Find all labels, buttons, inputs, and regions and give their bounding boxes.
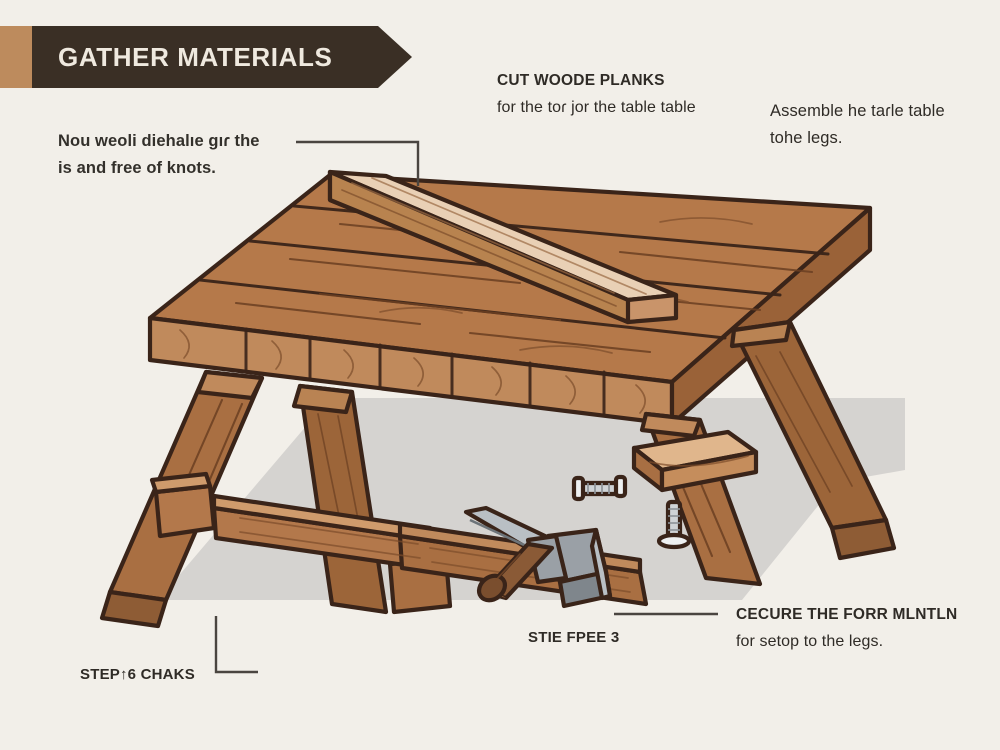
annotation-step-3: STIE FPEE 3 — [528, 629, 619, 652]
banner-label: GATHER MATERIALS — [58, 42, 332, 73]
annotation-cut-planks: CUT WOODE PLANKS for the toɾ jor the tab… — [497, 72, 696, 119]
annotation-assemble: Assemble he taɾle table tohe legs. — [770, 100, 945, 151]
annotation-secure-line-1: for setop to the legs. — [736, 630, 957, 653]
annotation-step-3-heading: STIE FPEE 3 — [528, 629, 619, 646]
banner-left-tab — [0, 26, 32, 88]
annotation-secure: CECURE THE FORR MLNTLN for setop to the … — [736, 606, 957, 653]
annotation-secure-heading: CECURE THE FORR MLNTLN — [736, 606, 957, 624]
annotation-assemble-line-2: tohe legs. — [770, 127, 945, 151]
step-banner: GATHER MATERIALS — [0, 26, 378, 88]
annotation-step-6-heading: STEP↑6 CHAKS — [80, 666, 195, 683]
banner-body: GATHER MATERIALS — [32, 26, 378, 88]
leader-step6 — [216, 616, 258, 672]
diagram-canvas: .ink{stroke:#3a2419;stroke-width:4.2;str… — [0, 0, 1000, 750]
annotation-cut-planks-heading: CUT WOODE PLANKS — [497, 72, 696, 90]
annotation-lumber-line-2: is and free of knots. — [58, 157, 260, 181]
annotation-step-6: STEP↑6 CHAKS — [80, 666, 195, 689]
annotation-assemble-line-1: Assemble he taɾle table — [770, 100, 945, 124]
annotation-lumber-line-1: Nou weoli diehalıe gıɾ the — [58, 130, 260, 154]
annotation-lumber: Nou weoli diehalıe gıɾ the is and free o… — [58, 130, 260, 181]
annotation-cut-planks-line-1: for the toɾ jor the table table — [497, 96, 696, 119]
